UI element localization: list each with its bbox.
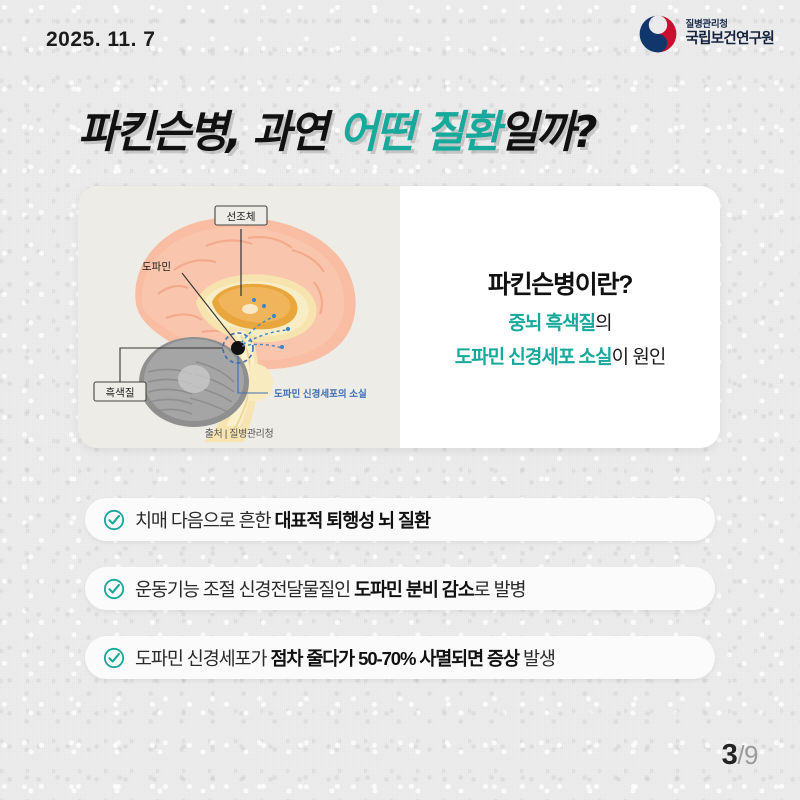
definition-line-2-suffix: 이 원인 xyxy=(612,347,666,368)
check-circle-icon xyxy=(103,509,125,531)
definition-heading: 파킨슨병이란? xyxy=(488,265,632,301)
label-dopamine: 도파민 xyxy=(142,261,171,273)
list-item-emphasis: 도파민 분비 감소 xyxy=(354,579,474,600)
label-dopamine-cell-loss: 도파민 신경세포의 소실 xyxy=(274,388,367,400)
page-current: 3 xyxy=(722,739,738,771)
check-circle-icon xyxy=(103,647,125,669)
agency-logo: 질병관리청 국립보건연구원 xyxy=(638,14,774,54)
slide-canvas: 2025. 11. 7 질병관리청 국립보건연구원 파킨슨병, 과연 어떤 질환… xyxy=(0,0,800,800)
list-item: 치매 다음으로 흔한 대표적 퇴행성 뇌 질환 xyxy=(85,498,715,541)
label-substantia-nigra: 흑색질 xyxy=(106,386,135,399)
brain-anatomy-illustration: 선조체 도파민 흑색질 도파민 신경세포의 소실 xyxy=(78,186,400,448)
list-item-suffix: 발생 xyxy=(519,648,555,669)
definition-line-2-emphasis: 도파민 신경세포 소실 xyxy=(455,347,612,368)
taegeuk-icon xyxy=(638,14,678,54)
list-item-prefix: 치매 다음으로 흔한 xyxy=(135,510,274,531)
list-item-text: 도파민 신경세포가 점차 줄다가 50-70% 사멸되면 증상 발생 xyxy=(135,645,555,671)
check-circle-icon xyxy=(103,578,125,600)
definition-line-1-emphasis: 중뇌 흑색질 xyxy=(508,313,595,334)
definition-line-1: 중뇌 흑색질의 xyxy=(508,308,611,335)
page-total: /9 xyxy=(737,740,758,770)
definition-panel: 파킨슨병이란? 중뇌 흑색질의 도파민 신경세포 소실이 원인 xyxy=(400,186,720,448)
list-item-text: 치매 다음으로 흔한 대표적 퇴행성 뇌 질환 xyxy=(135,507,430,533)
publish-date: 2025. 11. 7 xyxy=(46,28,155,52)
logo-agency-sub: 질병관리청 xyxy=(686,20,774,31)
main-card: 선조체 도파민 흑색질 도파민 신경세포의 소실 출처 | 질병관리청 파킨슨병… xyxy=(78,186,720,448)
title-part2: 일까? xyxy=(499,107,595,158)
definition-line-1-suffix: 의 xyxy=(595,313,611,334)
page-indicator: 3/9 xyxy=(722,739,758,772)
logo-agency-main: 국립보건연구원 xyxy=(686,31,774,48)
list-item-emphasis: 점차 줄다가 50-70% 사멸되면 증상 xyxy=(270,648,518,669)
title-part1: 파킨슨병, 과연 xyxy=(78,107,339,158)
label-striatum: 선조체 xyxy=(227,211,256,223)
page-title: 파킨슨병, 과연 어떤 질환일까? xyxy=(78,96,595,160)
list-item-suffix: 로 발병 xyxy=(474,579,526,600)
list-item-prefix: 도파민 신경세포가 xyxy=(135,648,270,669)
list-item-text: 운동기능 조절 신경전달물질인 도파민 분비 감소로 발병 xyxy=(135,576,525,602)
definition-line-2: 도파민 신경세포 소실이 원인 xyxy=(455,342,666,369)
title-highlight: 어떤 질환 xyxy=(339,107,499,158)
fact-list: 치매 다음으로 흔한 대표적 퇴행성 뇌 질환 운동기능 조절 신경전달물질인 … xyxy=(85,498,715,705)
list-item: 도파민 신경세포가 점차 줄다가 50-70% 사멸되면 증상 발생 xyxy=(85,636,715,679)
list-item-prefix: 운동기능 조절 신경전달물질인 xyxy=(135,579,354,600)
brain-diagram-panel: 선조체 도파민 흑색질 도파민 신경세포의 소실 출처 | 질병관리청 xyxy=(78,186,400,448)
list-item: 운동기능 조절 신경전달물질인 도파민 분비 감소로 발병 xyxy=(85,567,715,610)
diagram-source: 출처 | 질병관리청 xyxy=(78,425,400,440)
list-item-emphasis: 대표적 퇴행성 뇌 질환 xyxy=(274,510,429,531)
